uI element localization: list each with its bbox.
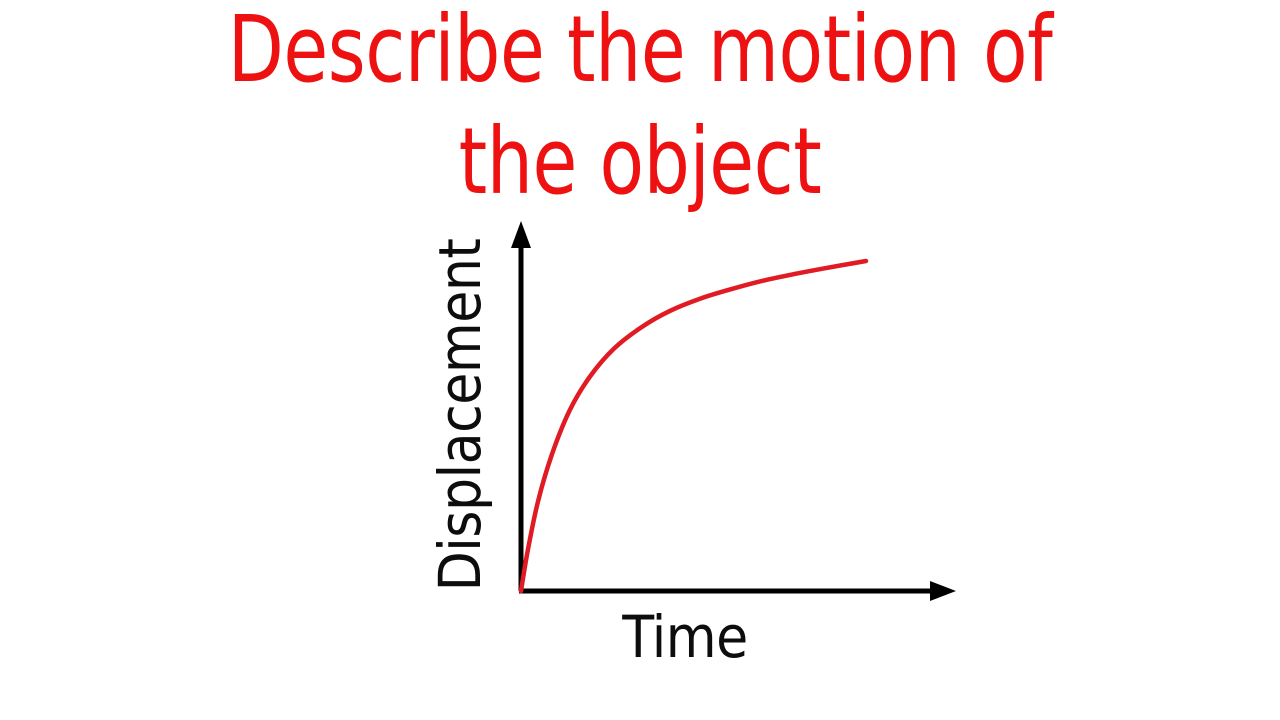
slide-canvas: Describe the motion of the object Displa… xyxy=(0,0,1280,720)
displacement-curve xyxy=(521,261,866,591)
y-axis-arrowhead xyxy=(511,221,531,248)
displacement-time-graph: Displacement Time xyxy=(0,0,1280,720)
x-axis-arrowhead xyxy=(930,581,956,601)
x-axis-label: Time xyxy=(622,608,748,666)
y-axis-label: Displacement xyxy=(431,239,489,592)
